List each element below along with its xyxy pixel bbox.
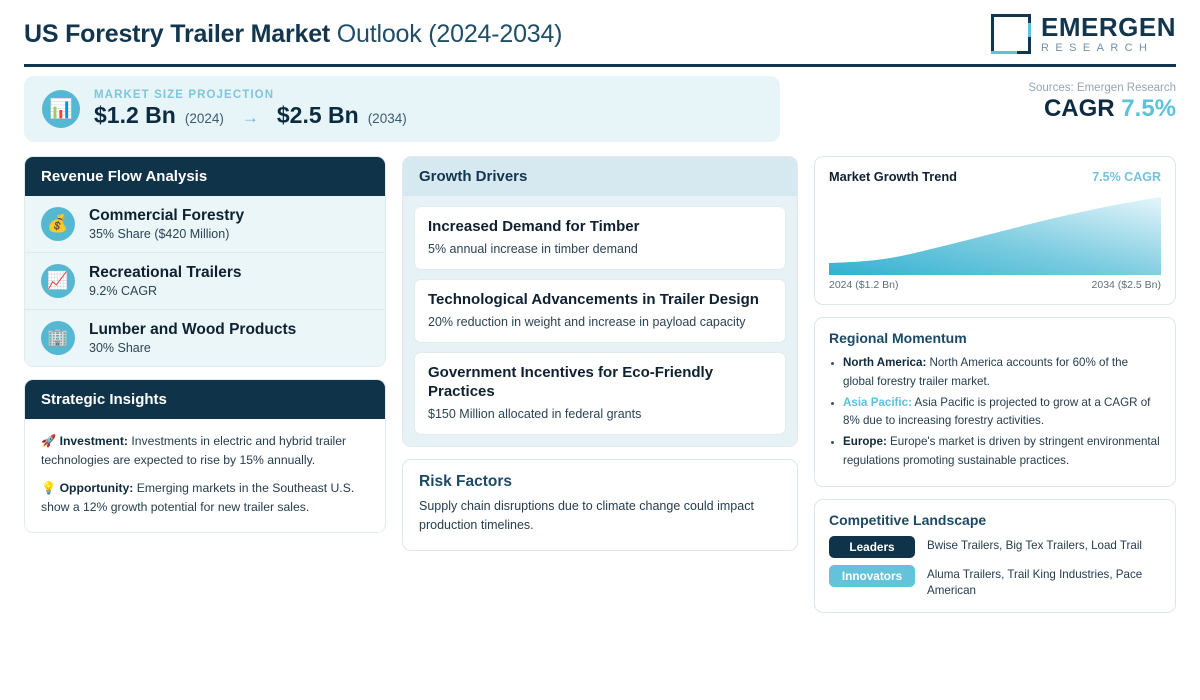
sources-text: Sources: Emergen Research <box>1028 82 1176 94</box>
rocket-icon: 🚀 <box>41 434 56 448</box>
growth-drivers-heading: Growth Drivers <box>403 157 797 196</box>
competitive-group-leaders: Leaders Bwise Trailers, Big Tex Trailers… <box>829 536 1161 558</box>
revenue-flow-panel: Revenue Flow Analysis 💰 Commercial Fores… <box>24 156 386 367</box>
cagr-value: 7.5% <box>1121 95 1176 122</box>
revenue-segment-detail: 30% Share <box>89 341 296 355</box>
region-text: Europe's market is driven by stringent e… <box>843 435 1160 467</box>
growth-driver-detail: $150 Million allocated in federal grants <box>428 406 772 422</box>
revenue-segment-name: Commercial Forestry <box>89 207 244 225</box>
growth-area-chart <box>829 193 1161 275</box>
money-bag-icon: 💰 <box>41 207 75 241</box>
competitive-landscape-heading: Competitive Landscape <box>829 512 1161 528</box>
region-label: Europe: <box>843 435 887 448</box>
revenue-segment-detail: 9.2% CAGR <box>89 284 242 298</box>
status-badge-leaders[interactable]: Leaders <box>829 536 915 558</box>
growth-drivers-list: Increased Demand for Timber 5% annual in… <box>403 196 797 446</box>
office-building-icon: 🏢 <box>41 321 75 355</box>
list-item-text: Recreational Trailers 9.2% CAGR <box>89 264 242 298</box>
list-item: North America: North America accounts fo… <box>829 354 1161 392</box>
content-columns: Revenue Flow Analysis 💰 Commercial Fores… <box>24 156 1176 613</box>
revenue-segment-name: Lumber and Wood Products <box>89 321 296 339</box>
page-title: US Forestry Trailer Market Outlook (2024… <box>24 20 562 49</box>
page-title-strong: US Forestry Trailer Market <box>24 20 330 48</box>
risk-factors-text: Supply chain disruptions due to climate … <box>419 497 781 535</box>
infographic-page: US Forestry Trailer Market Outlook (2024… <box>0 0 1200 700</box>
trend-header: Market Growth Trend 7.5% CAGR <box>829 169 1161 184</box>
regional-momentum-heading: Regional Momentum <box>829 330 1161 346</box>
growth-driver-detail: 5% annual increase in timber demand <box>428 241 772 257</box>
header-divider <box>24 64 1176 67</box>
cagr-block: Sources: Emergen Research CAGR 7.5% <box>1028 76 1176 123</box>
trend-axis-start: 2024 ($1.2 Bn) <box>829 279 898 291</box>
bar-chart-icon: 📊 <box>42 90 80 128</box>
trend-axis-end: 2034 ($2.5 Bn) <box>1092 279 1161 291</box>
list-item: Asia Pacific: Asia Pacific is projected … <box>829 394 1161 432</box>
insight-item: 🚀 Investment: Investments in electric an… <box>41 432 369 470</box>
strategic-insights-body: 🚀 Investment: Investments in electric an… <box>25 419 385 532</box>
market-size-banner-row: 📊 MARKET SIZE PROJECTION $1.2 Bn (2024) … <box>24 76 1176 142</box>
market-value-2034: $2.5 Bn <box>277 102 359 129</box>
regional-momentum-card: Regional Momentum North America: North A… <box>814 317 1176 487</box>
area-chart-svg <box>829 193 1161 275</box>
list-item: Europe: Europe's market is driven by str… <box>829 433 1161 471</box>
growth-drivers-panel: Growth Drivers Increased Demand for Timb… <box>402 156 798 447</box>
logo-square-icon <box>991 14 1031 54</box>
logo-wordmark: EMERGEN RESEARCH <box>1041 14 1176 54</box>
growth-driver-title: Government Incentives for Eco-Friendly P… <box>428 364 772 402</box>
trend-cagr-badge: 7.5% CAGR <box>1092 170 1161 184</box>
growth-driver-card[interactable]: Government Incentives for Eco-Friendly P… <box>414 352 786 435</box>
trend-title: Market Growth Trend <box>829 169 957 184</box>
page-title-light: Outlook (2024-2034) <box>330 20 562 48</box>
regional-momentum-list: North America: North America accounts fo… <box>829 354 1161 471</box>
strategic-insights-heading: Strategic Insights <box>25 380 385 419</box>
cagr-label: CAGR <box>1044 95 1115 122</box>
revenue-flow-list: 💰 Commercial Forestry 35% Share ($420 Mi… <box>25 196 385 366</box>
revenue-segment-detail: 35% Share ($420 Million) <box>89 227 244 241</box>
growth-driver-title: Technological Advancements in Trailer De… <box>428 291 772 310</box>
insight-label: Opportunity: <box>60 481 134 495</box>
list-item[interactable]: 💰 Commercial Forestry 35% Share ($420 Mi… <box>25 196 385 253</box>
strategic-insights-panel: Strategic Insights 🚀 Investment: Investm… <box>24 379 386 533</box>
competitive-group-innovators: Innovators Aluma Trailers, Trail King In… <box>829 565 1161 599</box>
risk-factors-panel: Risk Factors Supply chain disruptions du… <box>402 459 798 552</box>
right-column: Market Growth Trend 7.5% CAGR <box>814 156 1176 613</box>
middle-column: Growth Drivers Increased Demand for Timb… <box>402 156 798 551</box>
market-year-2024: (2024) <box>185 111 224 126</box>
list-item[interactable]: 🏢 Lumber and Wood Products 30% Share <box>25 310 385 366</box>
market-year-2034: (2034) <box>368 111 407 126</box>
insight-label: Investment: <box>60 434 128 448</box>
arrow-right-icon: → <box>233 108 268 128</box>
leaders-companies: Bwise Trailers, Big Tex Trailers, Load T… <box>927 536 1142 554</box>
page-header: US Forestry Trailer Market Outlook (2024… <box>24 0 1176 62</box>
revenue-flow-heading: Revenue Flow Analysis <box>25 157 385 196</box>
growth-driver-card[interactable]: Technological Advancements in Trailer De… <box>414 279 786 343</box>
revenue-segment-name: Recreational Trailers <box>89 264 242 282</box>
market-size-banner: 📊 MARKET SIZE PROJECTION $1.2 Bn (2024) … <box>24 76 780 142</box>
cagr-headline: CAGR 7.5% <box>1028 95 1176 123</box>
growth-driver-detail: 20% reduction in weight and increase in … <box>428 314 772 330</box>
banner-label: MARKET SIZE PROJECTION <box>94 89 407 101</box>
market-value-2024: $1.2 Bn <box>94 102 176 129</box>
banner-values: $1.2 Bn (2024) → $2.5 Bn (2034) <box>94 102 407 129</box>
list-item[interactable]: 📈 Recreational Trailers 9.2% CAGR <box>25 253 385 310</box>
status-badge-innovators[interactable]: Innovators <box>829 565 915 587</box>
emergen-research-logo: EMERGEN RESEARCH <box>991 14 1176 54</box>
logo-name: EMERGEN <box>1041 14 1176 40</box>
competitive-landscape-card: Competitive Landscape Leaders Bwise Trai… <box>814 499 1176 613</box>
market-growth-trend-card: Market Growth Trend 7.5% CAGR <box>814 156 1176 305</box>
chart-increasing-icon: 📈 <box>41 264 75 298</box>
banner-content: MARKET SIZE PROJECTION $1.2 Bn (2024) → … <box>94 89 407 129</box>
risk-factors-heading: Risk Factors <box>419 473 781 491</box>
region-label: Asia Pacific: <box>843 396 912 409</box>
list-item-text: Lumber and Wood Products 30% Share <box>89 321 296 355</box>
innovators-companies: Aluma Trailers, Trail King Industries, P… <box>927 565 1161 599</box>
trend-axis: 2024 ($1.2 Bn) 2034 ($2.5 Bn) <box>829 279 1161 291</box>
list-item-text: Commercial Forestry 35% Share ($420 Mill… <box>89 207 244 241</box>
region-label: North America: <box>843 356 926 369</box>
logo-subtitle: RESEARCH <box>1041 43 1176 54</box>
left-column: Revenue Flow Analysis 💰 Commercial Fores… <box>24 156 386 533</box>
lightbulb-icon: 💡 <box>41 481 56 495</box>
growth-driver-title: Increased Demand for Timber <box>428 218 772 237</box>
insight-item: 💡 Opportunity: Emerging markets in the S… <box>41 479 369 517</box>
growth-driver-card[interactable]: Increased Demand for Timber 5% annual in… <box>414 206 786 270</box>
